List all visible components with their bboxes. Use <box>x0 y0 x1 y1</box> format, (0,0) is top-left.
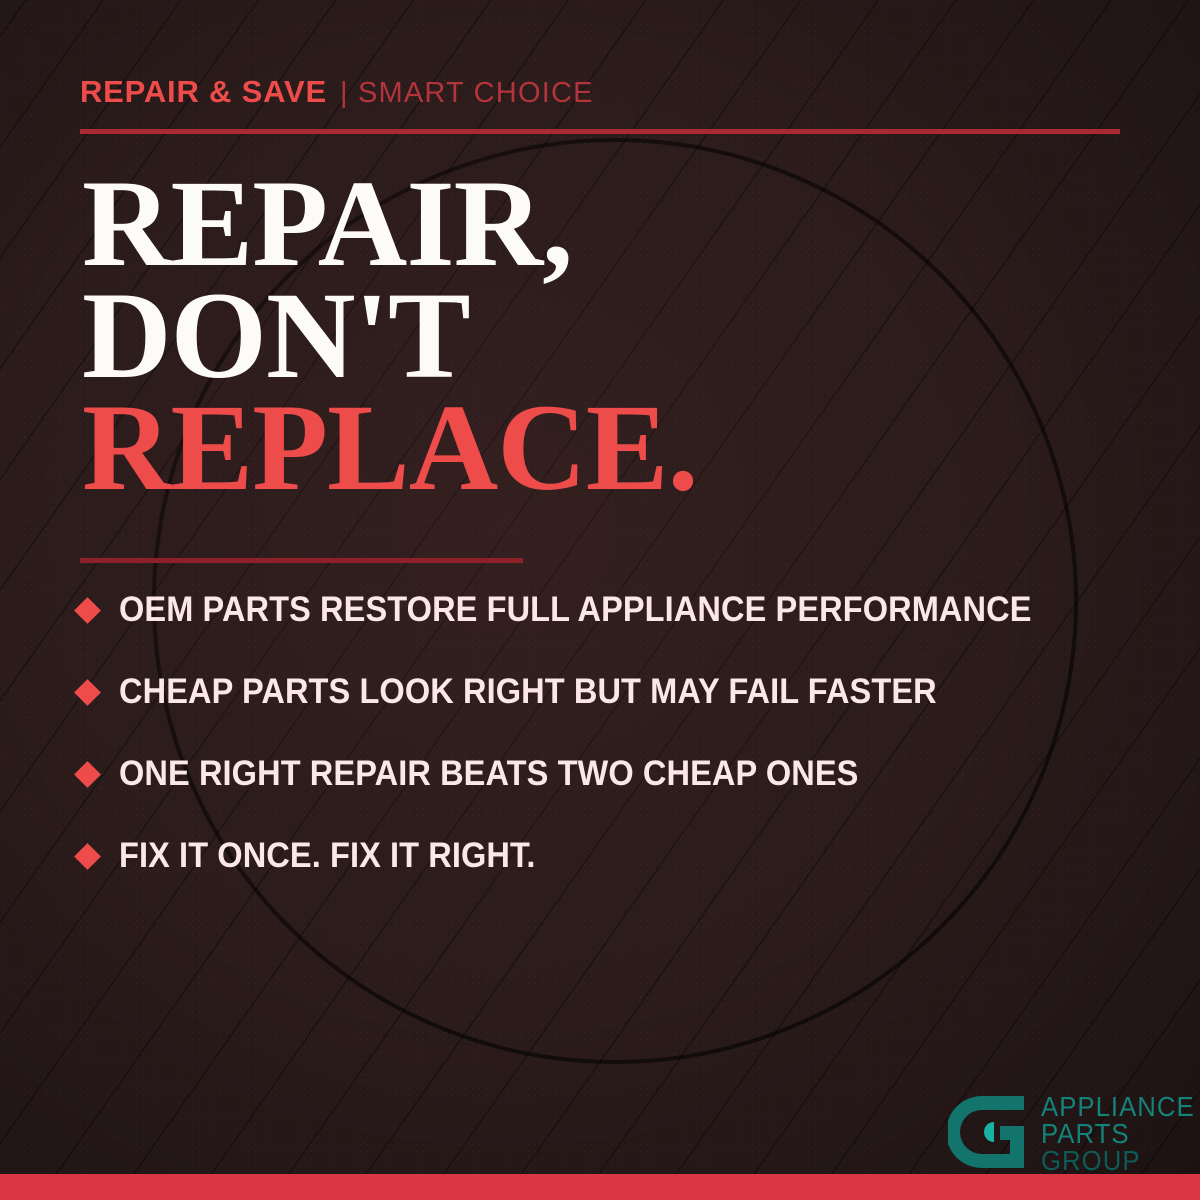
diamond-bullet-icon <box>74 597 101 624</box>
headline: REPAIR, DON'T REPLACE. <box>82 168 698 504</box>
headline-line-2: DON'T <box>82 280 698 392</box>
diamond-bullet-icon <box>74 679 101 706</box>
headline-line-1: REPAIR, <box>82 168 698 280</box>
list-item-label: ONE RIGHT REPAIR BEATS TWO CHEAP ONES <box>119 754 858 794</box>
list-item: CHEAP PARTS LOOK RIGHT BUT MAY FAIL FAST… <box>78 671 1148 713</box>
list-item-label: CHEAP PARTS LOOK RIGHT BUT MAY FAIL FAST… <box>119 672 937 712</box>
brand-word-parts: PARTS <box>1041 1120 1195 1147</box>
brand-logo-wordmark: APPLIANCE PARTS GROUP <box>1041 1092 1200 1174</box>
headline-divider-rule <box>80 558 523 563</box>
brand-word-appliance: APPLIANCE <box>1041 1093 1195 1120</box>
list-item: OEM PARTS RESTORE FULL APPLIANCE PERFORM… <box>78 589 1148 631</box>
bottom-accent-bar <box>0 1174 1200 1200</box>
brand-logo: APPLIANCE PARTS GROUP <box>948 1092 1200 1174</box>
brand-word-group: GROUP <box>1041 1147 1195 1174</box>
appliance-parts-group-g-icon <box>948 1092 1028 1172</box>
list-item: FIX IT ONCE. FIX IT RIGHT. <box>78 835 1148 877</box>
benefit-list: OEM PARTS RESTORE FULL APPLIANCE PERFORM… <box>78 589 1148 917</box>
headline-line-3: REPLACE. <box>82 392 698 504</box>
list-item: ONE RIGHT REPAIR BEATS TWO CHEAP ONES <box>78 753 1148 795</box>
eyebrow-kicker: REPAIR & SAVE | SMART CHOICE <box>80 74 594 110</box>
eyebrow-light-label: | SMART CHOICE <box>340 77 594 110</box>
diamond-bullet-icon <box>74 761 101 788</box>
list-item-label: OEM PARTS RESTORE FULL APPLIANCE PERFORM… <box>119 590 1032 630</box>
promo-poster: REPAIR & SAVE | SMART CHOICE REPAIR, DON… <box>0 0 1200 1200</box>
eyebrow-strong-label: REPAIR & SAVE <box>80 74 327 110</box>
header-divider-rule <box>80 129 1120 134</box>
diamond-bullet-icon <box>74 843 101 870</box>
list-item-label: FIX IT ONCE. FIX IT RIGHT. <box>119 836 536 876</box>
